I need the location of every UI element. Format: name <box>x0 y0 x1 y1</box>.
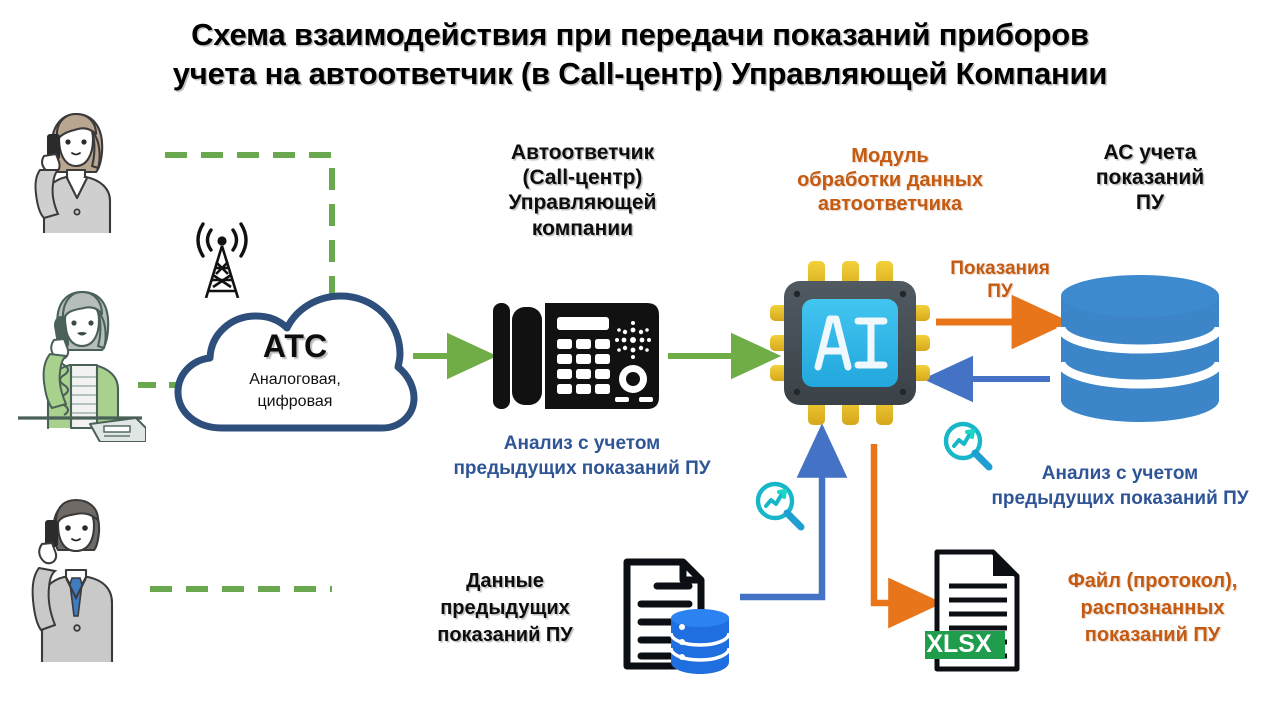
readings-annotation-line-1: Показания <box>925 258 1075 281</box>
protocol-file-label-line-2: распознанных <box>1030 595 1275 622</box>
accounting-system-label-line-1: АС учета <box>1035 140 1265 165</box>
xlsx-file-icon: XLSX <box>925 548 1025 673</box>
ai-module-label-line-2: обработки данных <box>755 168 1025 192</box>
ai-module-label-line-1: Модуль <box>755 144 1025 168</box>
pbx-cloud: АТС Аналоговая, цифровая <box>170 280 420 440</box>
readings-annotation-line-2: ПУ <box>925 281 1075 304</box>
pbx-name: АТС <box>170 328 420 365</box>
analysis-left-line-1: Анализ с учетом <box>432 432 732 457</box>
page-title: Схема взаимодействия при передачи показа… <box>60 16 1220 94</box>
pbx-subtitle-line-2: цифровая <box>170 391 420 413</box>
ai-chip-icon <box>770 255 930 430</box>
document-database-icon <box>605 548 745 678</box>
pbx-subtitle-line-1: Аналоговая, <box>170 369 420 391</box>
analysis-magnifier-icon <box>752 478 808 534</box>
protocol-file-label: Файл (протокол), распознанных показаний … <box>1030 568 1275 649</box>
readings-annotation: Показания ПУ <box>925 258 1075 304</box>
previous-data-label-line-2: предыдущих <box>400 595 610 622</box>
accounting-system-label-line-3: ПУ <box>1035 190 1265 215</box>
analysis-right-line-1: Анализ с учетом <box>965 462 1275 487</box>
analysis-magnifier-icon <box>940 418 996 474</box>
person-on-landline-phone-icon <box>14 282 146 442</box>
answering-machine-label-line-3: Управляющей <box>460 190 705 215</box>
answering-machine-label-line-1: Автоответчик <box>460 140 705 165</box>
previous-data-label: Данные предыдущих показаний ПУ <box>400 568 610 649</box>
answering-machine-label: Автоответчик (Call-центр) Управляющей ко… <box>460 140 705 241</box>
analysis-annotation-right: Анализ с учетом предыдущих показаний ПУ <box>965 462 1275 511</box>
caller-woman-mobile <box>14 108 134 233</box>
accounting-system-label: АС учета показаний ПУ <box>1035 140 1265 216</box>
previous-data-label-line-3: показаний ПУ <box>400 622 610 649</box>
diagram-canvas: Схема взаимодействия при передачи показа… <box>0 0 1280 720</box>
caller-elderly-landline <box>14 282 146 442</box>
title-line-1: Схема взаимодействия при передачи показа… <box>60 16 1220 55</box>
title-line-2: учета на автоответчик (в Call-центр) Упр… <box>60 55 1220 94</box>
desk-phone-icon <box>487 297 665 415</box>
xlsx-badge-text: XLSX <box>926 630 992 658</box>
answering-machine-label-line-2: (Call-центр) <box>460 165 705 190</box>
database-icon <box>1055 270 1225 425</box>
protocol-file-label-line-3: показаний ПУ <box>1030 622 1275 649</box>
person-on-mobile-phone-icon <box>14 492 136 662</box>
arrow-chip-to-xlsx <box>874 444 922 603</box>
analysis-left-line-2: предыдущих показаний ПУ <box>432 457 732 482</box>
analysis-right-line-2: предыдущих показаний ПУ <box>965 487 1275 512</box>
previous-data-label-line-1: Данные <box>400 568 610 595</box>
answering-machine-label-line-4: компании <box>460 216 705 241</box>
analysis-annotation-left: Анализ с учетом предыдущих показаний ПУ <box>432 432 732 481</box>
caller-man-mobile <box>14 492 136 662</box>
ai-module-label-line-3: автоответчика <box>755 192 1025 216</box>
ai-module-label: Модуль обработки данных автоответчика <box>755 144 1025 216</box>
person-on-mobile-phone-icon <box>14 108 134 233</box>
protocol-file-label-line-1: Файл (протокол), <box>1030 568 1275 595</box>
accounting-system-label-line-2: показаний <box>1035 165 1265 190</box>
